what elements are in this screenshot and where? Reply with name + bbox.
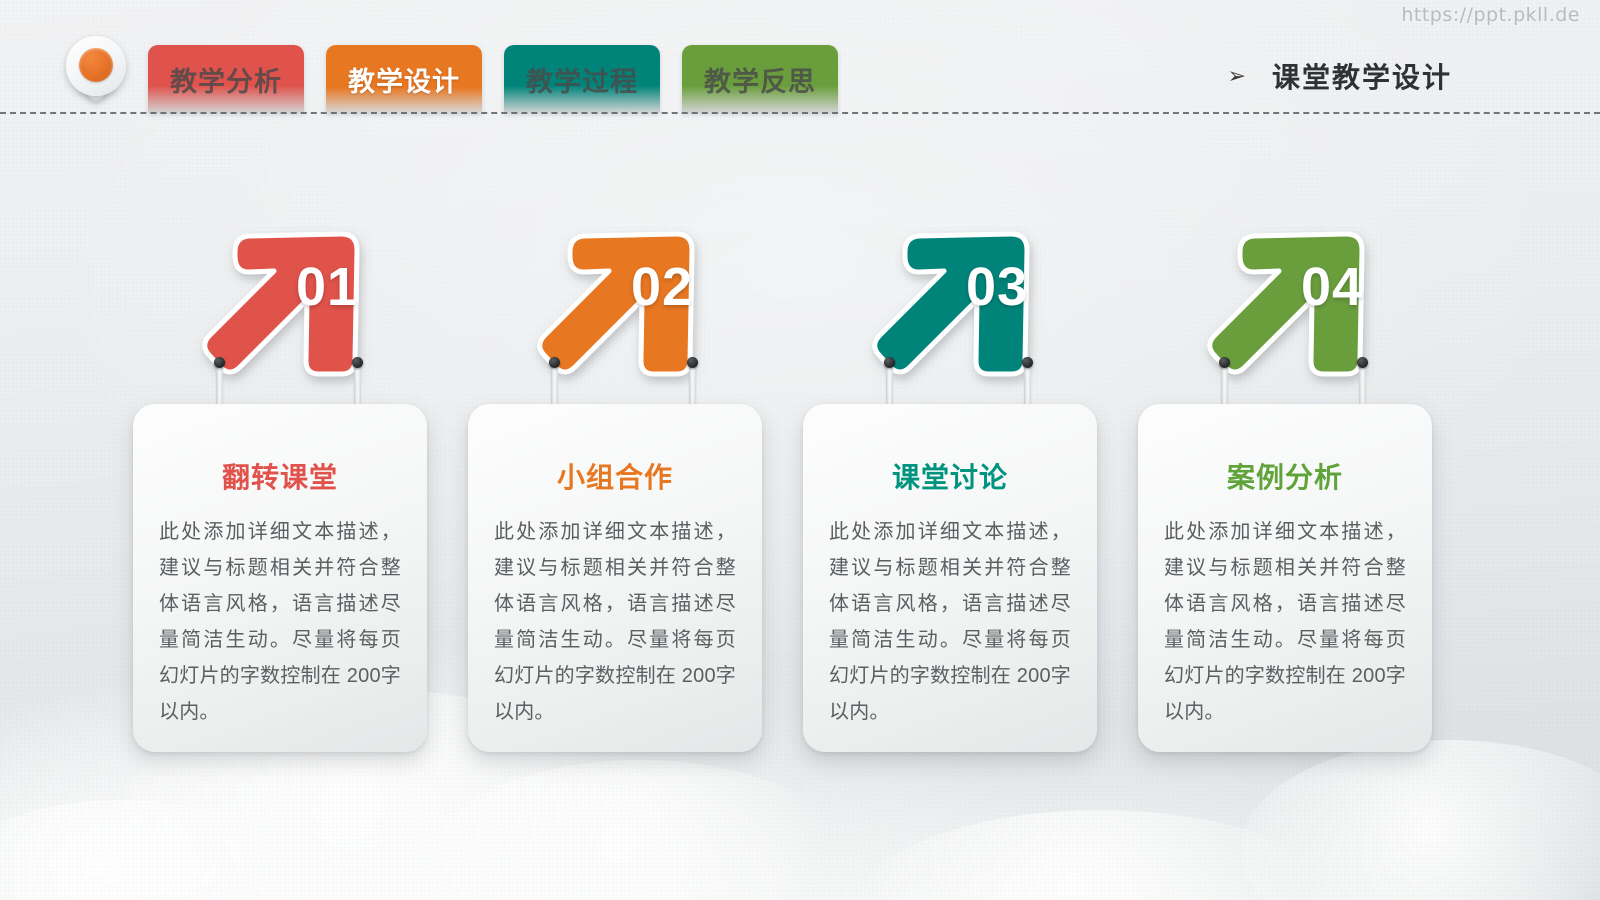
arrow-number: 02 (631, 256, 693, 318)
card-title: 翻转课堂 (159, 456, 401, 496)
info-card-1[interactable]: 翻转课堂此处添加详细文本描述，建议与标题相关并符合整体语言风格，语言描述尽量简洁… (133, 404, 427, 752)
section-title-group: ➢ 课堂教学设计 (1228, 56, 1452, 96)
nav-tab-label: 教学设计 (348, 60, 460, 99)
hanging-nail-top (352, 357, 363, 368)
info-card-4[interactable]: 案例分析此处添加详细文本描述，建议与标题相关并符合整体语言风格，语言描述尽量简洁… (1138, 404, 1432, 752)
arrow-number: 01 (296, 256, 358, 318)
nav-tab-label: 教学反思 (704, 60, 816, 99)
card-body-text: 此处添加详细文本描述，建议与标题相关并符合整体语言风格，语言描述尽量简洁生动。尽… (1164, 514, 1406, 730)
arrow-icon-2: 02 (528, 228, 728, 378)
nav-tab-3[interactable]: 教学过程 (504, 45, 660, 113)
map-pin-icon (66, 36, 126, 108)
arrow-number: 04 (1301, 256, 1363, 318)
slide-header: 教学分析教学设计教学过程教学反思 ➢ 课堂教学设计 (0, 0, 1600, 114)
nav-tab-4[interactable]: 教学反思 (682, 45, 838, 113)
hanging-nail-top (687, 357, 698, 368)
header-divider (0, 112, 1600, 114)
cloud-decoration (0, 800, 300, 900)
slide-canvas: https://ppt.pkll.de 教学分析教学设计教学过程教学反思 ➢ 课… (0, 0, 1600, 900)
nav-tab-2[interactable]: 教学设计 (326, 45, 482, 113)
card-body-text: 此处添加详细文本描述，建议与标题相关并符合整体语言风格，语言描述尽量简洁生动。尽… (159, 514, 401, 730)
info-card-2[interactable]: 小组合作此处添加详细文本描述，建议与标题相关并符合整体语言风格，语言描述尽量简洁… (468, 404, 762, 752)
arrow-icon-3: 03 (863, 228, 1063, 378)
hanging-nail-top (214, 357, 225, 368)
hanging-nail-top (1357, 357, 1368, 368)
info-card-3[interactable]: 课堂讨论此处添加详细文本描述，建议与标题相关并符合整体语言风格，语言描述尽量简洁… (803, 404, 1097, 752)
map-pin-dot (79, 48, 113, 82)
card-title: 小组合作 (494, 456, 736, 496)
page-title: 课堂教学设计 (1272, 56, 1452, 96)
cloud-decoration (1240, 740, 1600, 900)
nav-tab-1[interactable]: 教学分析 (148, 45, 304, 113)
arrow-icon-1: 01 (193, 228, 393, 378)
nav-tabs[interactable]: 教学分析教学设计教学过程教学反思 (148, 45, 838, 113)
hanging-nail-top (884, 357, 895, 368)
hanging-nail-top (1022, 357, 1033, 368)
cloud-decoration (430, 760, 850, 900)
arrow-icon-4: 04 (1198, 228, 1398, 378)
card-title: 案例分析 (1164, 456, 1406, 496)
card-body-text: 此处添加详细文本描述，建议与标题相关并符合整体语言风格，语言描述尽量简洁生动。尽… (829, 514, 1071, 730)
cloud-decoration (860, 810, 1340, 900)
card-body-text: 此处添加详细文本描述，建议与标题相关并符合整体语言风格，语言描述尽量简洁生动。尽… (494, 514, 736, 730)
card-title: 课堂讨论 (829, 456, 1071, 496)
hanging-nail-top (549, 357, 560, 368)
nav-tab-label: 教学过程 (526, 60, 638, 99)
hanging-nail-top (1219, 357, 1230, 368)
arrow-bullet-icon: ➢ (1228, 65, 1246, 87)
arrow-number: 03 (966, 256, 1028, 318)
nav-tab-label: 教学分析 (170, 60, 282, 99)
